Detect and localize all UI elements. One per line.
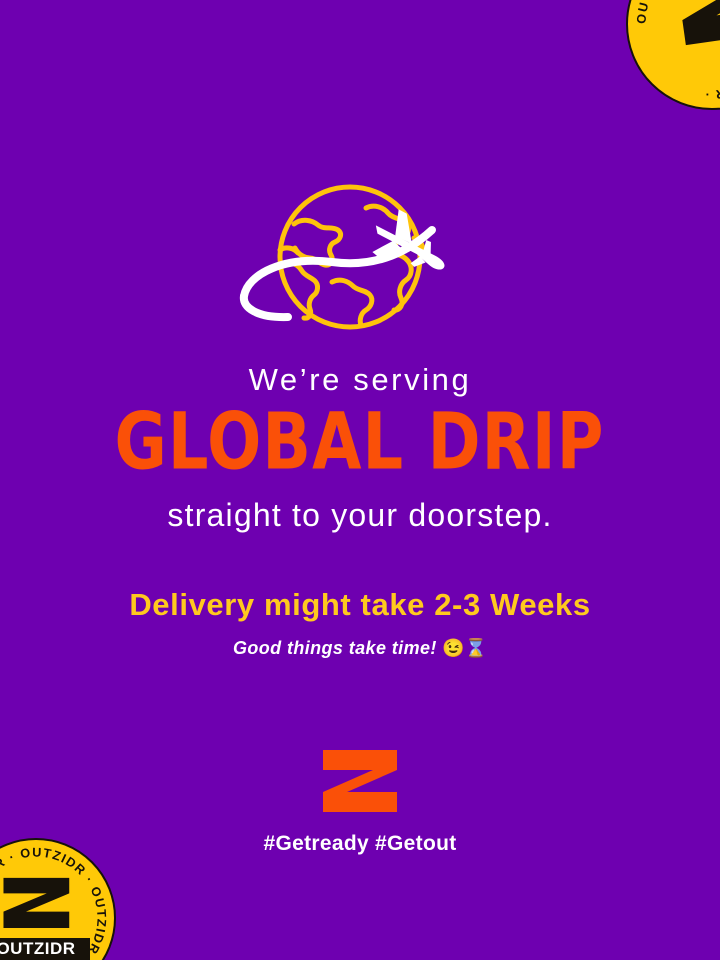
outzidr-badge-top-right: OUTZIDR · OUTZIDR · OUTZIDR · OUTZIDR · … bbox=[626, 0, 720, 110]
reassurance-text: Good things take time! 😉⌛ bbox=[0, 639, 720, 657]
wink-hourglass-emoji: 😉⌛ bbox=[442, 638, 487, 658]
badge-core: OUTZIDR bbox=[0, 877, 84, 958]
poster-copy: We’re serving GLOBAL DRIP straight to yo… bbox=[0, 364, 720, 657]
badge-z-mark bbox=[660, 0, 720, 49]
outzidr-badge-bottom-left: OUTZIDR · OUTZIDR · OUTZIDR · OUTZIDR · … bbox=[0, 838, 116, 960]
outzidr-z-logo bbox=[321, 748, 399, 814]
badge-z-mark bbox=[0, 877, 84, 929]
delivery-notice-text: Delivery might take 2-3 Weeks bbox=[0, 589, 720, 620]
badge-wordmark-bl: OUTZIDR bbox=[0, 938, 90, 960]
promo-poster: We’re serving GLOBAL DRIP straight to yo… bbox=[0, 0, 720, 960]
reassurance-label: Good things take time! bbox=[233, 638, 437, 658]
globe-airplane-icon bbox=[236, 178, 484, 346]
subhead-text: straight to your doorstep. bbox=[0, 499, 720, 531]
headline-text: GLOBAL DRIP bbox=[0, 411, 720, 473]
eyebrow-text: We’re serving bbox=[0, 364, 720, 395]
